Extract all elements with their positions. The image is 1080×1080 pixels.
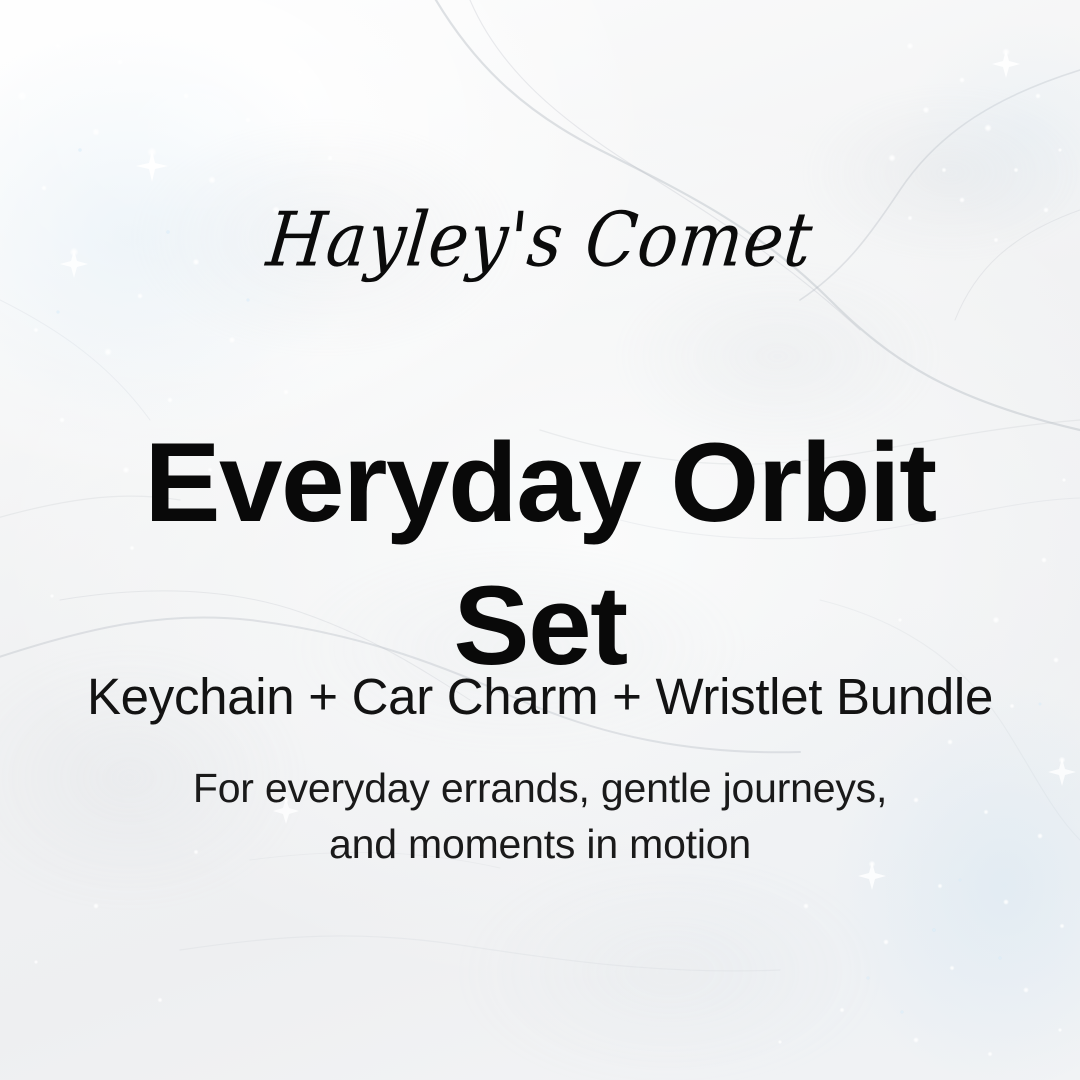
product-description: For everyday errands, gentle journeys, a… [60,761,1020,873]
description-line-2: and moments in motion [60,817,1020,873]
description-line-1: For everyday errands, gentle journeys, [60,761,1020,817]
poster-content: Hayley's Comet Everyday Orbit Set Keycha… [0,0,1080,1080]
product-graphic-canvas: Hayley's Comet Everyday Orbit Set Keycha… [0,0,1080,1080]
product-bundle-subtitle: Keychain + Car Charm + Wristlet Bundle [30,666,1050,727]
page-title: Everyday Orbit Set [50,411,1029,698]
brand-logo-hayleys-comet: Hayley's Comet [0,201,1080,280]
